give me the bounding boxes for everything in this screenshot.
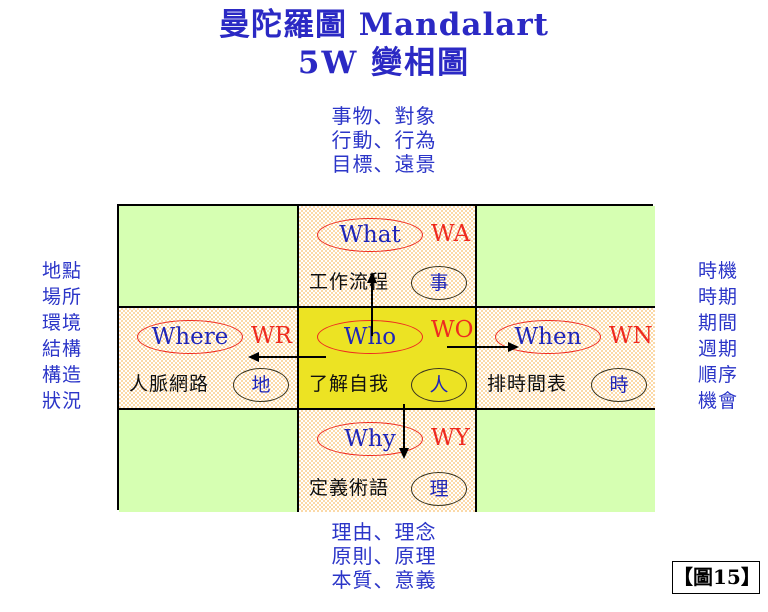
tag-label: 地 xyxy=(233,368,289,402)
arrow-who-to-when xyxy=(447,342,519,352)
bottom-annotation-line: 本質、意義 xyxy=(0,568,768,592)
why-heading: Why WY xyxy=(299,418,475,462)
top-annotation-line: 行動、行為 xyxy=(0,128,768,152)
bottom-annotations: 理由、理念 原則、原理 本質、意義 xyxy=(0,520,768,592)
w-description: 排時間表 xyxy=(487,369,567,396)
w-code-label: WY xyxy=(431,418,470,458)
left-annotation-line: 狀況 xyxy=(14,388,110,414)
mandalart-diagram: 曼陀羅圖 Mandalart 5W 變相圖 事物、對象 行動、行為 目標、遠景 … xyxy=(0,0,768,612)
grid-cell-why[interactable]: Why WY 定義術語 理 xyxy=(299,410,477,512)
what-heading: What WA xyxy=(299,214,475,258)
w-code-label: WN xyxy=(609,316,653,356)
tag-label: 人 xyxy=(411,368,467,402)
left-annotation-line: 地點 xyxy=(14,258,110,284)
right-annotation-line: 週期 xyxy=(672,336,764,362)
tag-label: 時 xyxy=(591,368,647,402)
arrow-who-to-why xyxy=(403,404,407,460)
figure-label: 【圖15】 xyxy=(672,561,760,594)
left-annotations: 地點 場所 環境 結構 構造 狀況 xyxy=(14,258,110,414)
left-annotation-line: 環境 xyxy=(14,310,110,336)
right-annotations: 時機 時期 期間 週期 順序 機會 xyxy=(672,258,764,414)
when-heading: When WN xyxy=(477,316,655,360)
w-description: 工作流程 xyxy=(309,267,389,294)
right-annotation-line: 時期 xyxy=(672,284,764,310)
bottom-annotation-line: 原則、原理 xyxy=(0,544,768,568)
mandalart-grid: What WA 工作流程 事 Where WR 人脈網路 地 Who WO xyxy=(117,204,653,510)
w-description: 了解自我 xyxy=(309,369,389,396)
right-annotation-line: 順序 xyxy=(672,362,764,388)
top-annotations: 事物、對象 行動、行為 目標、遠景 xyxy=(0,104,768,176)
page-title: 曼陀羅圖 Mandalart 5W 變相圖 xyxy=(0,6,768,83)
grid-cell-what[interactable]: What WA 工作流程 事 xyxy=(299,206,477,308)
w-description: 人脈網路 xyxy=(129,369,209,396)
left-annotation-line: 場所 xyxy=(14,284,110,310)
tag-label: 事 xyxy=(411,266,467,300)
grid-cell-bottom-left[interactable] xyxy=(119,410,299,512)
left-annotation-line: 構造 xyxy=(14,362,110,388)
w-description: 定義術語 xyxy=(309,473,389,500)
tag-label: 理 xyxy=(411,472,467,506)
title-line-2: 5W 變相圖 xyxy=(0,44,768,83)
w-code-label: WR xyxy=(251,316,292,356)
w-word-label: What xyxy=(317,218,423,252)
grid-cell-top-right[interactable] xyxy=(477,206,655,308)
top-annotation-line: 事物、對象 xyxy=(0,104,768,128)
right-annotation-line: 機會 xyxy=(672,388,764,414)
top-annotation-line: 目標、遠景 xyxy=(0,152,768,176)
right-annotation-line: 時機 xyxy=(672,258,764,284)
grid-cell-top-left[interactable] xyxy=(119,206,299,308)
w-word-label: Where xyxy=(137,320,243,354)
bottom-annotation-line: 理由、理念 xyxy=(0,520,768,544)
title-line-1: 曼陀羅圖 Mandalart xyxy=(0,6,768,44)
w-word-label: Who xyxy=(317,320,423,354)
grid-cell-when[interactable]: When WN 排時間表 時 xyxy=(477,308,655,410)
w-code-label: WA xyxy=(431,214,470,254)
arrow-who-to-where xyxy=(248,352,326,362)
grid-cell-bottom-right[interactable] xyxy=(477,410,655,512)
arrow-who-to-what xyxy=(371,272,375,336)
left-annotation-line: 結構 xyxy=(14,336,110,362)
right-annotation-line: 期間 xyxy=(672,310,764,336)
